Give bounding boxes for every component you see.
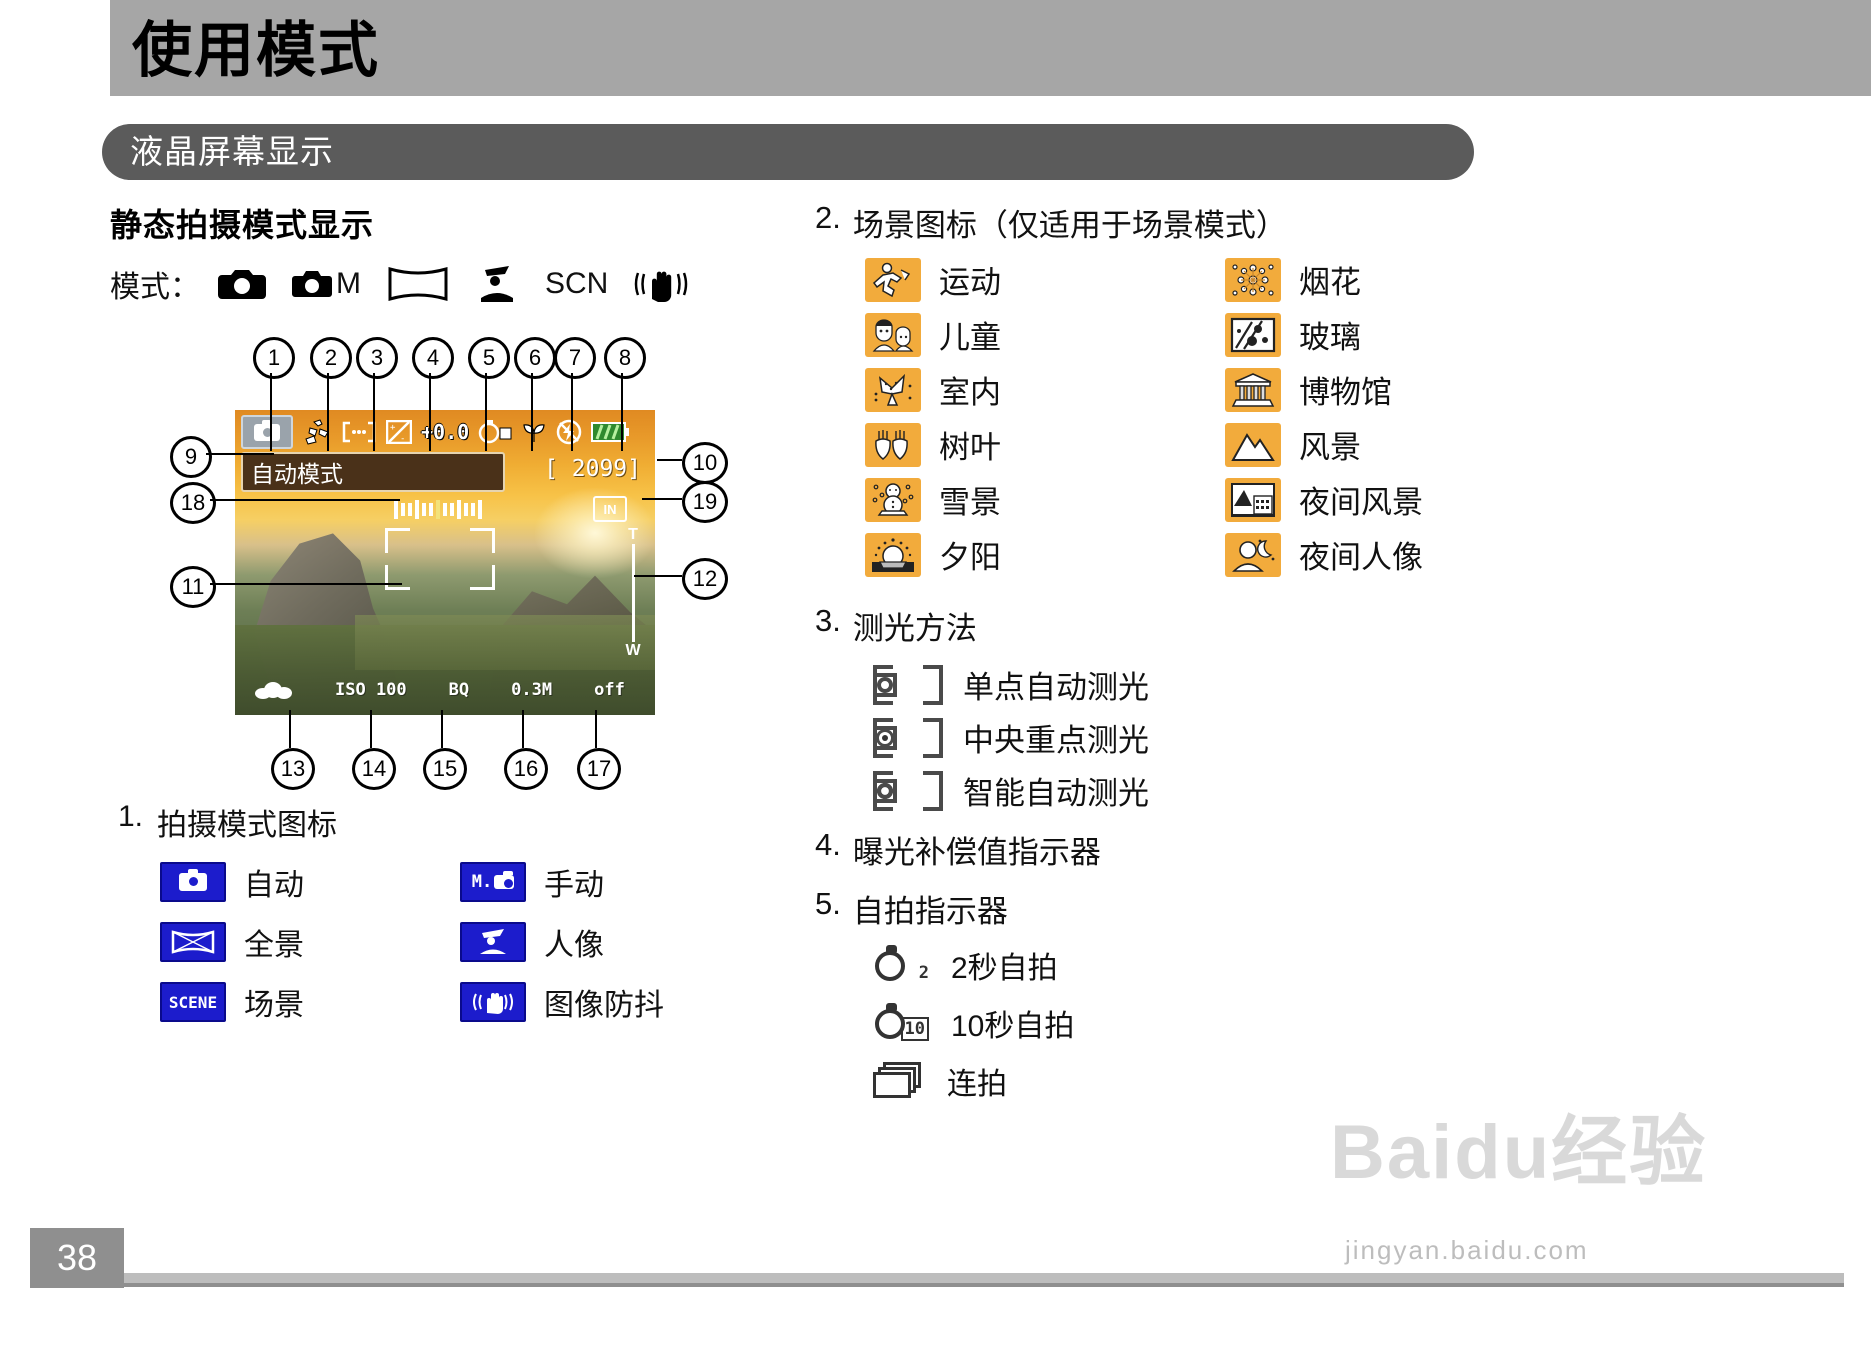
glass-icon (1225, 313, 1281, 357)
callout-7: 7 (554, 337, 596, 379)
manual-icon-badge: M. (472, 872, 492, 892)
callout-14-number: 14 (352, 748, 396, 790)
mode-item-manual: M. 手动 (460, 860, 760, 904)
callout-18-number: 18 (170, 482, 216, 524)
section-1-title: 拍摄模式图标 (157, 800, 337, 844)
mode-item-portrait: 人像 (460, 920, 760, 964)
osd-shots-remaining: [ 2099] (544, 456, 641, 482)
footer-rule-2 (124, 1283, 1844, 1287)
scene-item-landscape-label: 风景 (1299, 422, 1361, 467)
burst-icon (873, 1062, 925, 1100)
anti-shake-icon (460, 982, 526, 1022)
callout-9-line (206, 453, 274, 455)
zoom-bar-stem (632, 544, 635, 642)
section-1-grid: 自动 M. 手动 全景 人像 SCENE 场景 (160, 860, 818, 1024)
scn-mode-text: SCN (545, 267, 608, 301)
callout-2-line (327, 373, 329, 451)
portrait-icon (475, 264, 519, 304)
callout-12-line (634, 575, 682, 577)
svg-text:+: + (390, 423, 396, 433)
camera-manual-icon: M (292, 267, 361, 301)
callout-13-line (289, 710, 291, 748)
scene-item-night-landscape-label: 夜间风景 (1299, 477, 1423, 522)
page-title: 使用模式 (132, 6, 380, 96)
scene-item-leaf: 树叶 (865, 422, 1225, 467)
section-1-number: 1. (118, 800, 143, 834)
selftimer-list: 2 2秒自拍 10 10秒自拍 连拍 (873, 943, 1825, 1103)
mode-item-auto-label: 自动 (244, 860, 304, 904)
mode-item-scene-label: 场景 (244, 980, 304, 1024)
callout-5-line (485, 373, 487, 451)
scene-item-sunset-label: 夕阳 (939, 532, 1001, 577)
callout-3-line (373, 373, 375, 451)
scene-item-night-portrait: 夜间人像 (1225, 532, 1585, 577)
callout-3: 3 (356, 337, 398, 379)
svg-text:-: - (400, 434, 405, 444)
night-portrait-icon (1225, 533, 1281, 577)
left-subheading: 静态拍摄模式显示 (110, 200, 840, 246)
scene-icon: SCENE (160, 982, 226, 1022)
museum-icon (1225, 368, 1281, 412)
callout-15-line (441, 710, 443, 748)
section-4-title: 曝光补偿值指示器 (853, 827, 1101, 872)
section-4-number: 4. (815, 827, 841, 872)
left-column: 静态拍摄模式显示 模式： M SCN (110, 200, 840, 306)
mode-row: 模式： M SCN (110, 262, 840, 306)
valley-mid (355, 615, 655, 670)
callout-17-line (595, 710, 597, 748)
center-metering-icon (873, 718, 943, 758)
scene-item-sunset: 夕阳 (865, 532, 1225, 577)
callout-18: 18 (170, 482, 216, 524)
osd-battery-icon (591, 421, 631, 443)
selftimer-item-10s-label: 10秒自拍 (951, 1001, 1074, 1045)
scene-item-indoor-label: 室内 (939, 367, 1001, 412)
mode-item-panorama-label: 全景 (244, 920, 304, 964)
callout-16-number: 16 (504, 748, 548, 790)
scene-item-glass-label: 玻璃 (1299, 312, 1361, 357)
lcd-preview-diagram: +- +0.0 自动模式 [ 2099] IN T W (235, 410, 655, 715)
scene-item-glass: 玻璃 (1225, 312, 1585, 357)
osd-flash-value: off (594, 680, 625, 700)
sunset-icon (865, 533, 921, 577)
section-3-number: 3. (815, 603, 841, 648)
right-column: 2. 场景图标（仅适用于场景模式） 运动 (815, 200, 1825, 1117)
leaf-icon (865, 423, 921, 467)
osd-zoom-bar: T W (625, 526, 641, 660)
callout-18-line (210, 499, 400, 501)
metering-item-spot-label: 单点自动测光 (963, 662, 1149, 707)
zoom-tele-label: T (628, 526, 638, 544)
mode-item-panorama: 全景 (160, 920, 460, 964)
metering-item-center: 中央重点测光 (873, 715, 1825, 760)
callout-6-line (531, 373, 533, 451)
callout-16: 16 (504, 748, 548, 790)
section-2-title: 场景图标（仅适用于场景模式） (853, 200, 1287, 245)
callout-2-number: 2 (310, 337, 352, 379)
callout-1-number: 1 (253, 337, 295, 379)
scene-item-indoor: 室内 (865, 367, 1225, 412)
spot-metering-icon (873, 665, 943, 705)
scene-item-snow-label: 雪景 (939, 477, 1001, 522)
kids-icon (865, 313, 921, 357)
callout-6-number: 6 (514, 337, 556, 379)
osd-focus-frame (385, 528, 495, 590)
callout-11-number: 11 (170, 566, 216, 608)
zoom-wide-label: W (625, 642, 640, 660)
manual-icon: M. (460, 862, 526, 902)
page-number: 38 (57, 1237, 97, 1279)
mode-item-antishake-label: 图像防抖 (544, 980, 664, 1024)
callout-5: 5 (468, 337, 510, 379)
page-header: 使用模式 (110, 0, 1871, 96)
osd-ev-icon: +- (386, 420, 412, 444)
scene-icons-grid: 运动 烟花 (865, 257, 1825, 577)
osd-iso-value: ISO 100 (335, 680, 407, 700)
mode-item-portrait-label: 人像 (544, 920, 604, 964)
callout-3-number: 3 (356, 337, 398, 379)
scene-item-landscape: 风景 (1225, 422, 1585, 467)
osd-selftimer-icon (478, 420, 512, 444)
section-bar: 液晶屏幕显示 (102, 124, 1474, 180)
callout-19: 19 (682, 481, 728, 523)
callout-14-line (370, 710, 372, 748)
osd-resolution-value: 0.3M (511, 680, 552, 700)
osd-bottom-row: ISO 100 BQ 0.3M off (255, 675, 645, 705)
watermark-brand: Baidu经验 (1330, 1090, 1707, 1200)
footer-rule (124, 1273, 1844, 1283)
lcd-screen: +- +0.0 自动模式 [ 2099] IN T W (235, 410, 655, 715)
section-bar-label: 液晶屏幕显示 (130, 124, 334, 180)
scene-item-sport-label: 运动 (939, 257, 1001, 302)
scene-item-kids: 儿童 (865, 312, 1225, 357)
metering-list: 单点自动测光 中央重点测光 智能自动测光 (873, 662, 1825, 813)
mode-item-antishake: 图像防抖 (460, 980, 760, 1024)
timer-2s-icon: 2 (873, 945, 929, 985)
callout-11: 11 (170, 566, 216, 608)
metering-item-center-label: 中央重点测光 (963, 715, 1149, 760)
scene-icon-badge: SCENE (169, 993, 217, 1012)
osd-macro-icon (521, 420, 547, 444)
selftimer-item-burst-label: 连拍 (947, 1059, 1007, 1103)
selftimer-item-10s: 10 10秒自拍 (873, 1001, 1825, 1045)
timer-10s-badge: 10 (901, 1017, 929, 1041)
metering-item-multi-label: 智能自动测光 (963, 768, 1149, 813)
selftimer-item-2s-label: 2秒自拍 (951, 943, 1058, 987)
section-1-heading: 1. 拍摄模式图标 (118, 800, 818, 844)
osd-memory-icon: IN (593, 496, 627, 522)
scene-item-fireworks-label: 烟花 (1299, 257, 1361, 302)
panorama-icon (160, 922, 226, 962)
mode-item-auto: 自动 (160, 860, 460, 904)
scene-item-sport: 运动 (865, 257, 1225, 302)
callout-16-line (522, 710, 524, 748)
callout-13: 13 (271, 748, 315, 790)
mode-row-label: 模式： (110, 262, 200, 306)
fireworks-icon (1225, 258, 1281, 302)
callout-8-number: 8 (604, 337, 646, 379)
osd-flash-off-icon (556, 419, 582, 445)
osd-mode-text-label: 自动模式 (251, 455, 343, 489)
section-5-heading: 5. 自拍指示器 (815, 886, 1825, 931)
sport-icon (865, 258, 921, 302)
callout-9: 9 (170, 436, 212, 478)
scene-item-museum: 博物馆 (1225, 367, 1585, 412)
callout-14: 14 (352, 748, 396, 790)
scene-item-snow: 雪景 (865, 477, 1225, 522)
callout-5-number: 5 (468, 337, 510, 379)
section-3-title: 测光方法 (853, 603, 977, 648)
section-5-title: 自拍指示器 (853, 886, 1008, 931)
callout-4: 4 (412, 337, 454, 379)
section-2-number: 2. (815, 200, 841, 245)
night-landscape-icon (1225, 478, 1281, 522)
section-2-heading: 2. 场景图标（仅适用于场景模式） (815, 200, 1825, 245)
osd-ev-scale (363, 498, 513, 520)
page-number-box: 38 (30, 1228, 124, 1288)
callout-19-number: 19 (682, 481, 728, 523)
indoor-icon (865, 368, 921, 412)
multi-metering-icon (873, 771, 943, 811)
selftimer-item-2s: 2 2秒自拍 (873, 943, 1825, 987)
callout-2: 2 (310, 337, 352, 379)
callout-10-number: 10 (682, 442, 728, 484)
callout-8: 8 (604, 337, 646, 379)
callout-7-line (571, 373, 573, 451)
scene-item-kids-label: 儿童 (939, 312, 1001, 357)
panorama-icon (387, 266, 449, 302)
osd-capture-mode-icon (241, 415, 293, 449)
callout-1: 1 (253, 337, 295, 379)
callout-10-line (657, 459, 682, 461)
callout-12: 12 (682, 558, 728, 600)
section-4-heading: 4. 曝光补偿值指示器 (815, 827, 1825, 872)
callout-17-number: 17 (577, 748, 621, 790)
osd-metering-icon (341, 421, 377, 443)
scene-item-night-landscape: 夜间风景 (1225, 477, 1585, 522)
callout-15: 15 (423, 748, 467, 790)
callout-17: 17 (577, 748, 621, 790)
metering-item-multi: 智能自动测光 (873, 768, 1825, 813)
scene-item-night-portrait-label: 夜间人像 (1299, 532, 1423, 577)
callout-11-line (210, 583, 402, 585)
scene-item-fireworks: 烟花 (1225, 257, 1585, 302)
callout-7-number: 7 (554, 337, 596, 379)
callout-4-number: 4 (412, 337, 454, 379)
osd-mode-text: 自动模式 (241, 452, 505, 492)
callout-1-line (270, 373, 272, 451)
osd-quality-value: BQ (449, 680, 469, 700)
osd-white-balance-icon (255, 682, 293, 699)
callout-12-number: 12 (682, 558, 728, 600)
callout-4-line (429, 373, 431, 451)
callout-13-number: 13 (271, 748, 315, 790)
anti-shake-icon (634, 265, 688, 303)
osd-top-row: +- +0.0 (241, 415, 649, 449)
callout-19-line (642, 498, 682, 500)
scene-item-leaf-label: 树叶 (939, 422, 1001, 467)
snow-icon (865, 478, 921, 522)
callout-8-line (621, 373, 623, 451)
section-3-heading: 3. 测光方法 (815, 603, 1825, 648)
scene-item-museum-label: 博物馆 (1299, 367, 1392, 412)
metering-item-spot: 单点自动测光 (873, 662, 1825, 707)
mode-item-scene: SCENE 场景 (160, 980, 460, 1024)
camera-icon (218, 267, 266, 301)
callout-9-number: 9 (170, 436, 212, 478)
auto-camera-icon (160, 862, 226, 902)
landscape-icon (1225, 423, 1281, 467)
callout-10: 10 (682, 442, 728, 484)
section-5-number: 5. (815, 886, 841, 931)
portrait-icon (460, 922, 526, 962)
mode-item-manual-label: 手动 (544, 860, 604, 904)
callout-6: 6 (514, 337, 556, 379)
timer-2s-badge: 2 (919, 963, 929, 983)
callout-15-number: 15 (423, 748, 467, 790)
timer-10s-icon: 10 (873, 1003, 929, 1043)
watermark-url: jingyan.baidu.com (1345, 1235, 1589, 1266)
section-1: 1. 拍摄模式图标 自动 M. 手动 全景 人像 (118, 800, 818, 1024)
